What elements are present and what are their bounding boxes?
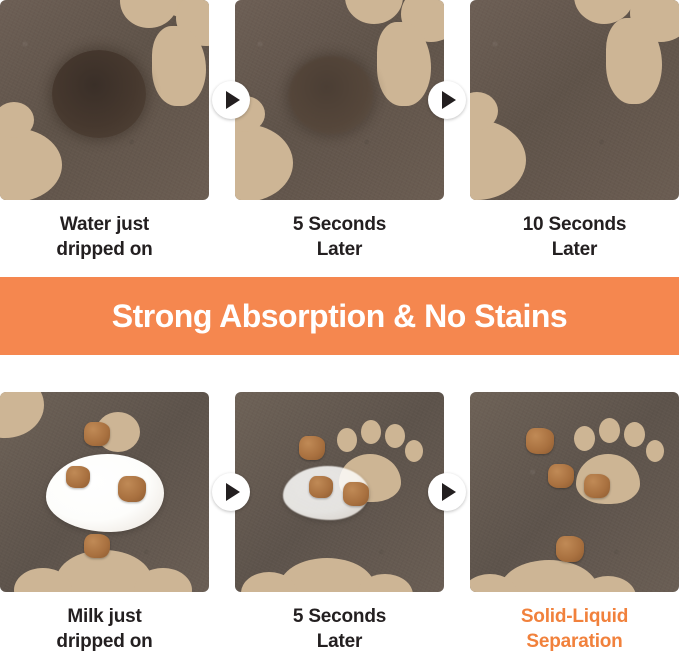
kibble-piece — [584, 474, 610, 498]
top-tile-1: Water just dripped on — [0, 0, 209, 262]
arrow-glyph — [442, 91, 456, 109]
kibble-piece — [66, 466, 90, 488]
caption-line-1: Solid-Liquid — [470, 604, 679, 629]
arrow-glyph — [226, 483, 240, 501]
caption-line-1: Water just — [0, 212, 209, 237]
kibble-piece — [343, 482, 369, 506]
banner: Strong Absorption & No Stains — [0, 277, 679, 355]
paw-toe-shape — [646, 440, 664, 462]
top-tile-3: 10 Seconds Later — [470, 0, 679, 262]
top-tile-1-image — [0, 0, 209, 200]
caption-line-2: Later — [235, 237, 444, 262]
caption-line-2: Separation — [470, 629, 679, 654]
arrow-right-icon — [428, 81, 466, 119]
bottom-row: Milk just dripped on — [0, 392, 679, 654]
kibble-piece — [556, 536, 584, 562]
kibble-piece — [309, 476, 333, 498]
top-tile-2-image — [235, 0, 444, 200]
kibble-piece — [118, 476, 146, 502]
caption-line-1: 10 Seconds — [470, 212, 679, 237]
banner-text: Strong Absorption & No Stains — [112, 298, 567, 335]
bottom-tile-1-image — [0, 392, 209, 592]
top-row: Water just dripped on 5 Seconds Later — [0, 0, 679, 262]
infographic-page: Water just dripped on 5 Seconds Later — [0, 0, 679, 655]
caption-line-2: Later — [470, 237, 679, 262]
milk-puddle — [46, 454, 164, 532]
bottom-tile-3-image — [470, 392, 679, 592]
top-tile-2: 5 Seconds Later — [235, 0, 444, 262]
arrow-glyph — [226, 91, 240, 109]
kibble-piece — [526, 428, 554, 454]
kibble-piece — [299, 436, 325, 460]
bottom-tile-2: 5 Seconds Later — [235, 392, 444, 654]
bottom-tile-2-caption: 5 Seconds Later — [235, 604, 444, 654]
top-tile-3-image — [470, 0, 679, 200]
bottom-tile-2-image — [235, 392, 444, 592]
carpet-noise — [470, 392, 679, 592]
bottom-tile-1-caption: Milk just dripped on — [0, 604, 209, 654]
arrow-right-icon — [212, 81, 250, 119]
caption-line-1: 5 Seconds — [235, 212, 444, 237]
arrow-right-icon — [428, 473, 466, 511]
top-tile-1-caption: Water just dripped on — [0, 212, 209, 262]
bottom-tile-1: Milk just dripped on — [0, 392, 209, 654]
kibble-piece — [548, 464, 574, 488]
arrow-glyph — [442, 483, 456, 501]
caption-line-2: dripped on — [0, 237, 209, 262]
paw-toe-shape — [385, 424, 405, 448]
kibble-piece — [84, 422, 110, 446]
paw-toe-shape — [361, 420, 381, 444]
caption-line-2: Later — [235, 629, 444, 654]
paw-toe-shape — [574, 426, 595, 451]
paw-toe-shape — [624, 422, 645, 447]
bottom-tile-3: Solid-Liquid Separation — [470, 392, 679, 654]
paw-toe-shape — [405, 440, 423, 462]
top-tile-2-caption: 5 Seconds Later — [235, 212, 444, 262]
caption-line-2: dripped on — [0, 629, 209, 654]
paw-toe-shape — [337, 428, 357, 452]
arrow-right-icon — [212, 473, 250, 511]
caption-line-1: Milk just — [0, 604, 209, 629]
top-tile-3-caption: 10 Seconds Later — [470, 212, 679, 262]
water-stain-faded — [289, 56, 373, 134]
paw-toe-shape — [599, 418, 620, 443]
caption-line-1: 5 Seconds — [235, 604, 444, 629]
water-stain — [52, 50, 146, 138]
bottom-tile-3-caption: Solid-Liquid Separation — [470, 604, 679, 654]
kibble-piece — [84, 534, 110, 558]
